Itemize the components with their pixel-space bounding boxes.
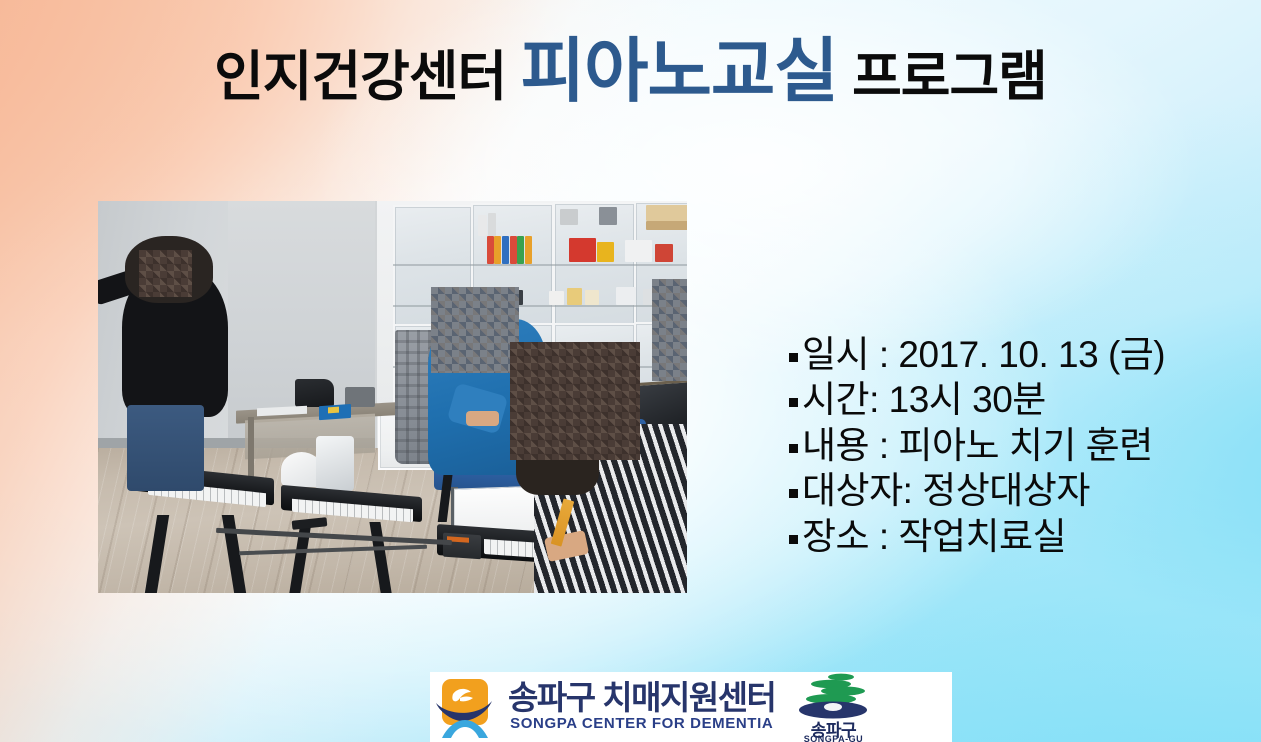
photo-desk-folder-label bbox=[328, 407, 339, 414]
photo-shelf-item bbox=[567, 288, 582, 304]
photo-shelf-item bbox=[597, 242, 613, 262]
photo-shelf-item bbox=[569, 238, 596, 262]
water-highlight-icon bbox=[824, 703, 842, 711]
program-details-list: 일시 : 2017. 10. 13 (금) 시간: 13시 30분 내용 : 피… bbox=[789, 333, 1249, 560]
arc-light-icon bbox=[442, 720, 488, 738]
list-item: 시간: 13시 30분 bbox=[789, 378, 1249, 422]
list-item: 일시 : 2017. 10. 13 (금) bbox=[789, 333, 1249, 377]
footer-logo-band: 송파구 치매지원센터 SONGPA CENTER FOR DEMENTIA 송파… bbox=[430, 672, 952, 742]
photo-shelf-book bbox=[510, 236, 517, 263]
tree-tier-icon bbox=[828, 674, 854, 681]
photo-shelf-line bbox=[393, 264, 688, 266]
photo-face-blurred bbox=[652, 279, 687, 381]
bird-wing-icon bbox=[460, 697, 473, 702]
photo-shelf-item bbox=[478, 215, 487, 237]
bullet-icon bbox=[789, 353, 798, 362]
photo-shelf-item bbox=[646, 205, 687, 221]
photo-shelf-item bbox=[646, 221, 687, 230]
photo-shelf-book bbox=[525, 236, 532, 263]
photo-shelf-item bbox=[585, 290, 599, 305]
program-photo bbox=[98, 201, 687, 593]
center-logo-text: 송파구 치매지원센터 SONGPA CENTER FOR DEMENTIA bbox=[508, 681, 775, 732]
list-item: 내용 : 피아노 치기 훈련 bbox=[789, 424, 1249, 468]
bullet-icon bbox=[789, 444, 798, 453]
list-item: 장소 : 작업치료실 bbox=[789, 515, 1249, 559]
center-name-ko: 송파구 치매지원센터 bbox=[508, 681, 775, 715]
title-suffix: 프로그램 bbox=[852, 47, 1047, 107]
photo-person-jeans bbox=[127, 405, 204, 491]
photo-desk-panel bbox=[245, 413, 375, 459]
swoosh-dark-icon bbox=[436, 701, 492, 721]
logo-mark-svg bbox=[434, 676, 496, 738]
detail-date: 일시 : 2017. 10. 13 (금) bbox=[802, 333, 1165, 377]
detail-place: 장소 : 작업치료실 bbox=[802, 515, 1066, 559]
photo-shelf-book bbox=[502, 236, 509, 263]
bullet-icon bbox=[789, 489, 798, 498]
photo-kettle bbox=[295, 379, 333, 406]
center-name-en: SONGPA CENTER FOR DEMENTIA bbox=[508, 716, 775, 733]
photo-shelf-item bbox=[560, 209, 578, 225]
photo-shelf-book bbox=[517, 236, 524, 263]
photo-face-blurred bbox=[139, 250, 192, 297]
photo-shelf-book bbox=[494, 236, 501, 263]
photo-shelf-book bbox=[487, 236, 494, 263]
photo-shelf-item bbox=[625, 240, 652, 262]
photo-shelf-item bbox=[599, 207, 618, 225]
center-logo-mark bbox=[434, 676, 496, 738]
photo-white-appliance bbox=[316, 436, 354, 491]
photo-face-blurred bbox=[510, 342, 640, 460]
photo-face-blurred bbox=[431, 287, 519, 373]
emblem-name-en: SONGPA-GU bbox=[791, 734, 875, 742]
page-title: 인지건강센터 피아노교실 프로그램 bbox=[0, 36, 1261, 106]
title-prefix: 인지건강센터 bbox=[214, 47, 506, 107]
photo-shelf-item bbox=[549, 291, 564, 305]
photo-shelf-item bbox=[655, 244, 673, 262]
detail-time: 시간: 13시 30분 bbox=[802, 378, 1046, 422]
detail-audience: 대상자: 정상대상자 bbox=[802, 469, 1090, 513]
slide-canvas: 인지건강센터 피아노교실 프로그램 bbox=[0, 0, 1261, 742]
bullet-icon bbox=[789, 535, 798, 544]
photo-person-hand bbox=[466, 411, 498, 427]
detail-content: 내용 : 피아노 치기 훈련 bbox=[802, 424, 1153, 468]
songpa-gu-emblem: 송파구 SONGPA-GU bbox=[791, 672, 875, 742]
title-highlight: 피아노교실 bbox=[511, 32, 848, 110]
list-item: 대상자: 정상대상자 bbox=[789, 469, 1249, 513]
photo-shelf-item bbox=[616, 287, 636, 305]
bullet-icon bbox=[789, 398, 798, 407]
photo-shelf-item bbox=[488, 213, 496, 237]
